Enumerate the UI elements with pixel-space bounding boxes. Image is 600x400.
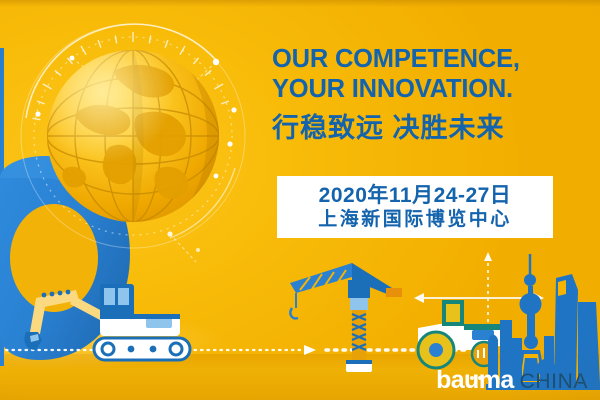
road-roller-icon (418, 300, 500, 368)
excavator-icon (24, 284, 190, 360)
headline-block: OUR COMPETENCE, YOUR INNOVATION. 行稳致远 决胜… (272, 44, 582, 145)
date-venue-banner: 2020年11月24-27日 上海新国际博览中心 (277, 176, 553, 238)
bauma-china-poster: OUR COMPETENCE, YOUR INNOVATION. 行稳致远 决胜… (0, 0, 600, 400)
globe-graphic (20, 18, 250, 268)
headline-line-2: YOUR INNOVATION. (272, 74, 582, 104)
event-venue: 上海新国际博览中心 (318, 208, 512, 232)
logo-region: CHINA (520, 371, 588, 392)
headline-line-1: OUR COMPETENCE, (272, 44, 582, 74)
bauma-china-logo: bauma CHINA (436, 368, 588, 393)
top-shadow-strip (0, 0, 600, 7)
event-date: 2020年11月24-27日 (319, 183, 512, 208)
logo-wordmark: bauma (436, 368, 514, 393)
headline-chinese: 行稳致远 决胜未来 (272, 111, 582, 145)
tower-crane-icon (290, 263, 402, 372)
globe-continents (47, 50, 222, 224)
